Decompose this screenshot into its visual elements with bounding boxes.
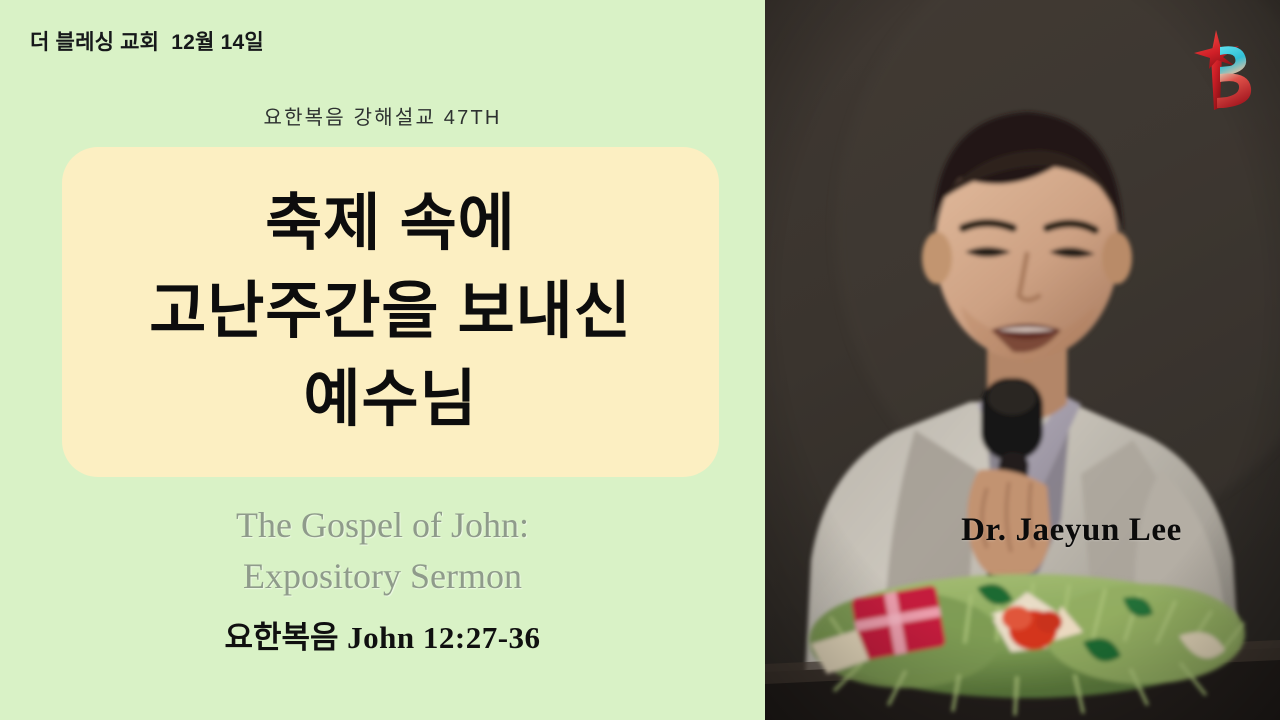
- sermon-title-line-1: 축제 속에: [76, 180, 705, 268]
- church-name-and-date: 더 블레싱 교회 12월 14일: [30, 26, 264, 56]
- sermon-title-line-2: 고난주간을 보내신: [76, 268, 705, 356]
- scripture-korean-book: 요한복음: [224, 620, 347, 655]
- english-subtitle-line-1: The Gospel of John:: [0, 500, 765, 551]
- sermon-title-line-3: 예수님: [76, 356, 705, 444]
- title-card-text-group: 축제 속에 고난주간을 보내신 예수님: [62, 180, 719, 444]
- scripture-reference: 요한복음 John 12:27-36: [0, 612, 765, 657]
- sermon-series-label: 요한복음 강해설교 47TH: [0, 101, 765, 130]
- left-info-panel: 더 블레싱 교회 12월 14일 요한복음 강해설교 47TH 축제 속에 고난…: [0, 0, 765, 720]
- scripture-english-reference: John 12:27-36: [347, 620, 540, 655]
- sermon-title-card: 더 블레싱 교회 12월 14일 요한복음 강해설교 47TH 축제 속에 고난…: [0, 0, 1280, 720]
- speaker-name: Dr. Jaeyun Lee: [765, 512, 1280, 549]
- blessing-church-b-cross-logo[interactable]: [1183, 26, 1261, 112]
- english-subtitle-line-2: Expository Sermon: [0, 551, 765, 602]
- title-card: 축제 속에 고난주간을 보내신 예수님: [62, 147, 719, 477]
- english-subtitle: The Gospel of John: Expository Sermon: [0, 500, 765, 602]
